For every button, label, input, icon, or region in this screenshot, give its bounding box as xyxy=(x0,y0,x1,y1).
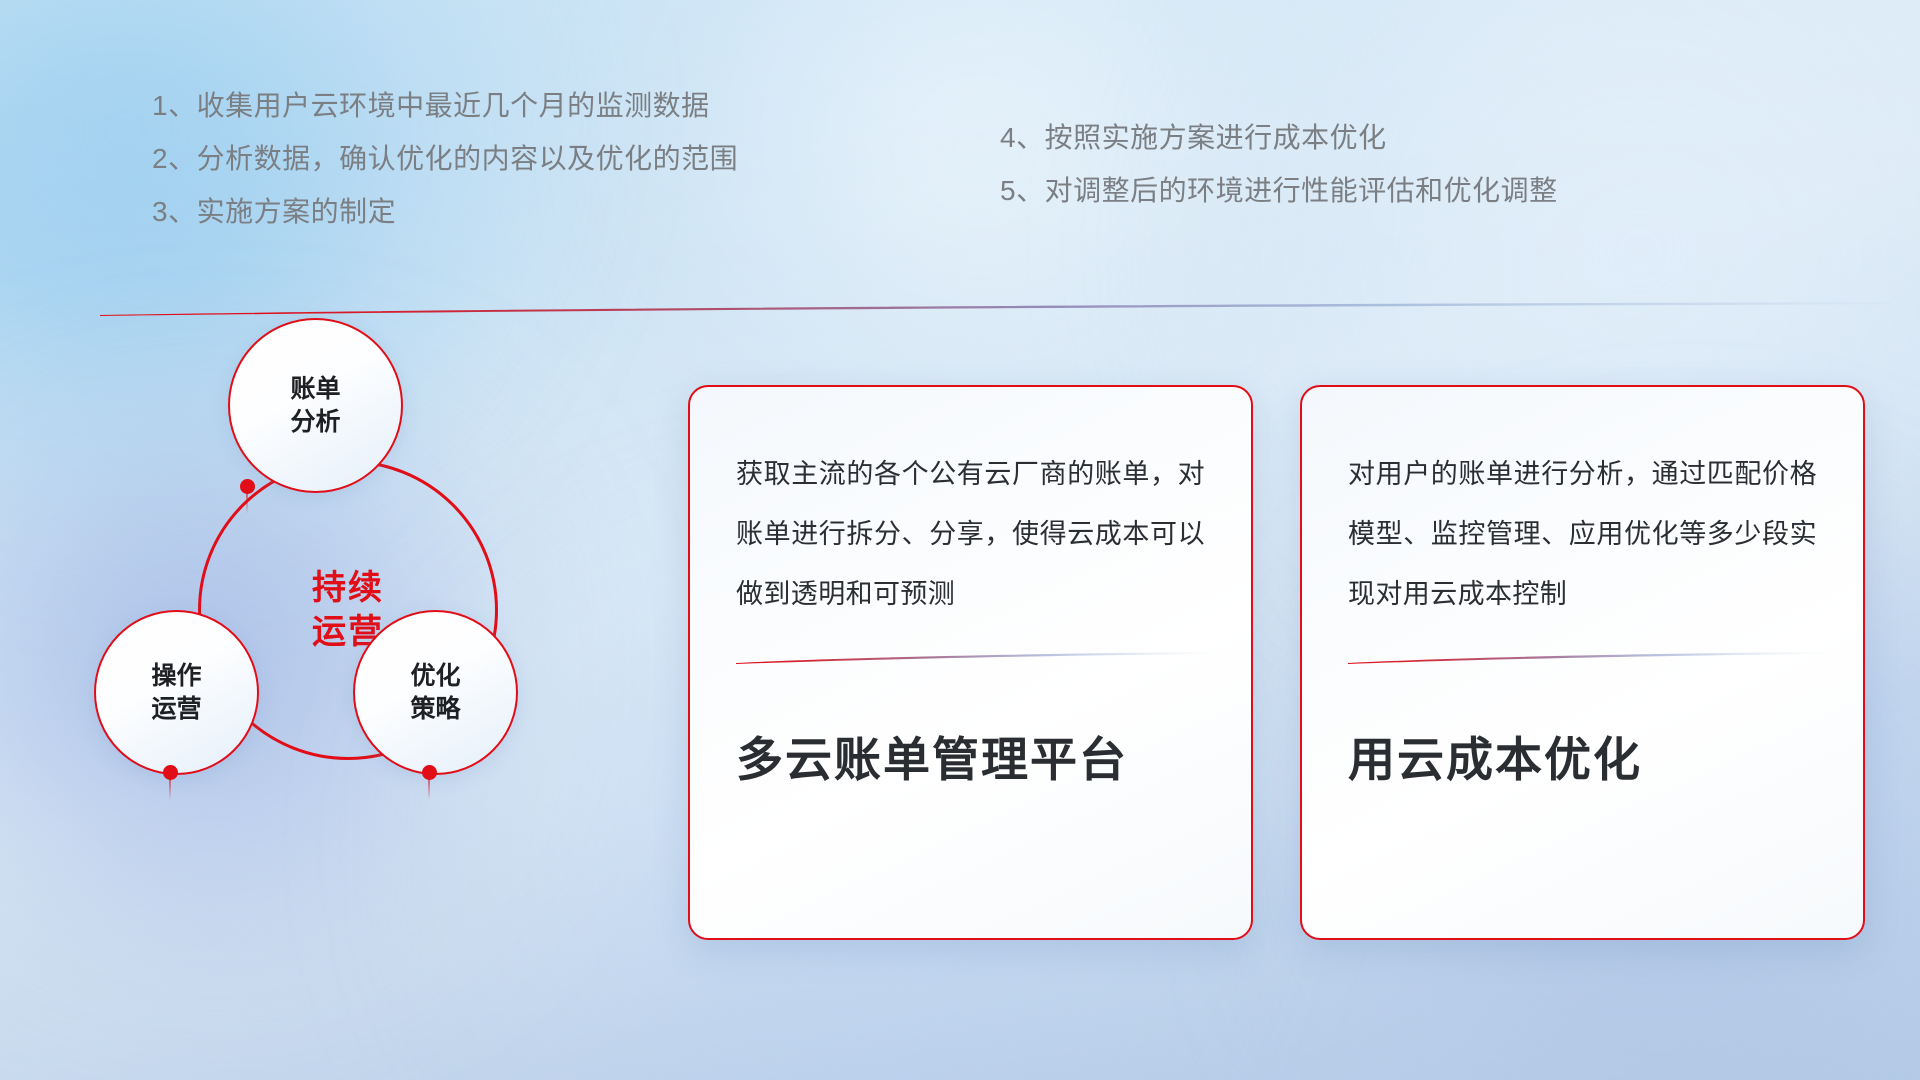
card-title: 多云账单管理平台 xyxy=(736,721,1205,790)
list-item: 1、 收集用户云环境中最近几个月的监测数据 xyxy=(152,92,738,145)
step-number: 4、 xyxy=(1000,124,1045,152)
section-divider-shape xyxy=(100,302,1890,316)
list-item: 3、 实施方案的制定 xyxy=(152,198,738,251)
card-multi-cloud-billing[interactable]: 获取主流的各个公有云厂商的账单，对账单进行拆分、分享，使得云成本可以做到透明和可… xyxy=(688,385,1253,940)
step-text: 收集用户云环境中最近几个月的监测数据 xyxy=(197,92,710,120)
steps-right-column: 4、 按照实施方案进行成本优化 5、 对调整后的环境进行性能评估和优化调整 xyxy=(1000,124,1558,230)
card-divider xyxy=(1348,651,1817,663)
step-text: 按照实施方案进行成本优化 xyxy=(1045,124,1387,152)
card-divider-shape xyxy=(1348,652,1821,664)
feature-cards: 获取主流的各个公有云厂商的账单，对账单进行拆分、分享，使得云成本可以做到透明和可… xyxy=(0,385,1920,945)
list-item: 4、 按照实施方案进行成本优化 xyxy=(1000,124,1558,177)
card-description: 获取主流的各个公有云厂商的账单，对账单进行拆分、分享，使得云成本可以做到透明和可… xyxy=(736,445,1205,625)
list-item: 5、 对调整后的环境进行性能评估和优化调整 xyxy=(1000,177,1558,230)
card-divider-shape xyxy=(736,652,1209,664)
step-text: 分析数据，确认优化的内容以及优化的范围 xyxy=(197,145,739,173)
step-number: 3、 xyxy=(152,198,197,226)
card-cloud-cost-optimization[interactable]: 对用户的账单进行分析，通过匹配价格模型、监控管理、应用优化等多少段实现对用云成本… xyxy=(1300,385,1865,940)
card-divider xyxy=(736,651,1205,663)
steps-left-column: 1、 收集用户云环境中最近几个月的监测数据 2、 分析数据，确认优化的内容以及优… xyxy=(152,92,738,251)
process-steps-list: 1、 收集用户云环境中最近几个月的监测数据 2、 分析数据，确认优化的内容以及优… xyxy=(0,92,1920,272)
step-text: 对调整后的环境进行性能评估和优化调整 xyxy=(1045,177,1558,205)
step-number: 5、 xyxy=(1000,177,1045,205)
step-text: 实施方案的制定 xyxy=(197,198,397,226)
step-number: 2、 xyxy=(152,145,197,173)
list-item: 2、 分析数据，确认优化的内容以及优化的范围 xyxy=(152,145,738,198)
step-number: 1、 xyxy=(152,92,197,120)
card-title: 用云成本优化 xyxy=(1348,721,1817,790)
card-description: 对用户的账单进行分析，通过匹配价格模型、监控管理、应用优化等多少段实现对用云成本… xyxy=(1348,445,1817,625)
section-divider xyxy=(100,302,1890,316)
